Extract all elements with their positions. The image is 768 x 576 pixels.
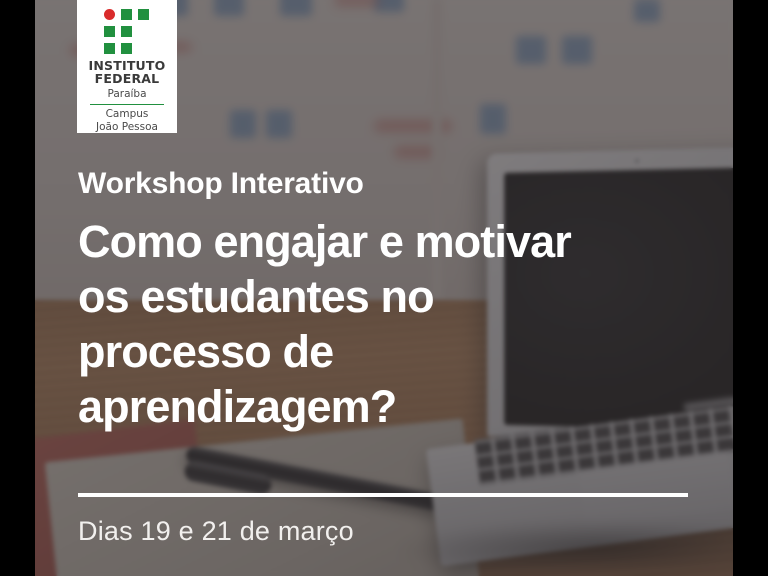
horizontal-divider — [78, 493, 688, 497]
logo-campus-name: João Pessoa — [77, 121, 177, 134]
if-logo-mark-icon — [104, 9, 150, 55]
logo-institution-line2: FEDERAL — [77, 73, 177, 86]
event-dates: Dias 19 e 21 de março — [78, 516, 354, 547]
event-kicker: Workshop Interativo — [78, 167, 364, 201]
headline-line: os estudantes no — [78, 269, 571, 324]
headline-line: Como engajar e motivar — [78, 214, 571, 269]
poster-canvas: INSTITUTO FEDERAL Paraíba Campus João Pe… — [0, 0, 768, 576]
logo-campus-label: Campus — [77, 108, 177, 121]
headline-line: processo de — [78, 324, 571, 379]
letterbox-bar-right — [733, 0, 768, 576]
headline-line: aprendizagem? — [78, 379, 571, 434]
logo-state: Paraíba — [77, 88, 177, 103]
page-title: Como engajar e motivar os estudantes no … — [78, 214, 571, 434]
institutional-logo: INSTITUTO FEDERAL Paraíba Campus João Pe… — [77, 0, 177, 133]
letterbox-bar-left — [0, 0, 35, 576]
logo-divider — [90, 104, 164, 105]
